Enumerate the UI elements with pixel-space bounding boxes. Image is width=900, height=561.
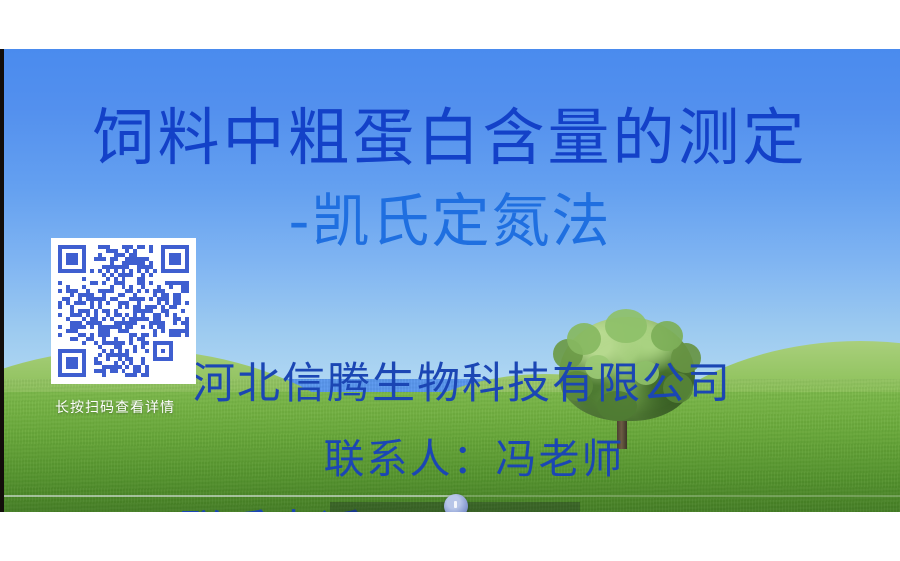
qr-caption: 长按扫码查看详情 [55, 397, 235, 417]
contact-person: 联系人：冯老师 [0, 425, 900, 485]
screenshot-root: 饲料中粗蛋白含量的测定 -凯氏定氮法 长按扫码查看详情 河北信腾生物科技有限公司… [0, 0, 900, 561]
slide-title-main: 饲料中粗蛋白含量的测定 [0, 105, 900, 170]
qr-code[interactable] [51, 238, 196, 384]
video-left-edge-bar [0, 49, 4, 512]
play-pause-button[interactable] [444, 494, 468, 512]
tree-leaf-cluster [651, 321, 683, 351]
player-letterbox-top [0, 0, 900, 49]
player-letterbox-bottom [0, 512, 900, 561]
play-icon [454, 501, 457, 508]
qr-code-matrix [58, 245, 189, 377]
video-stage[interactable]: 饲料中粗蛋白含量的测定 -凯氏定氮法 长按扫码查看详情 河北信腾生物科技有限公司… [0, 49, 900, 512]
player-progress-fill [0, 495, 455, 497]
tree-leaf-cluster [605, 309, 647, 343]
